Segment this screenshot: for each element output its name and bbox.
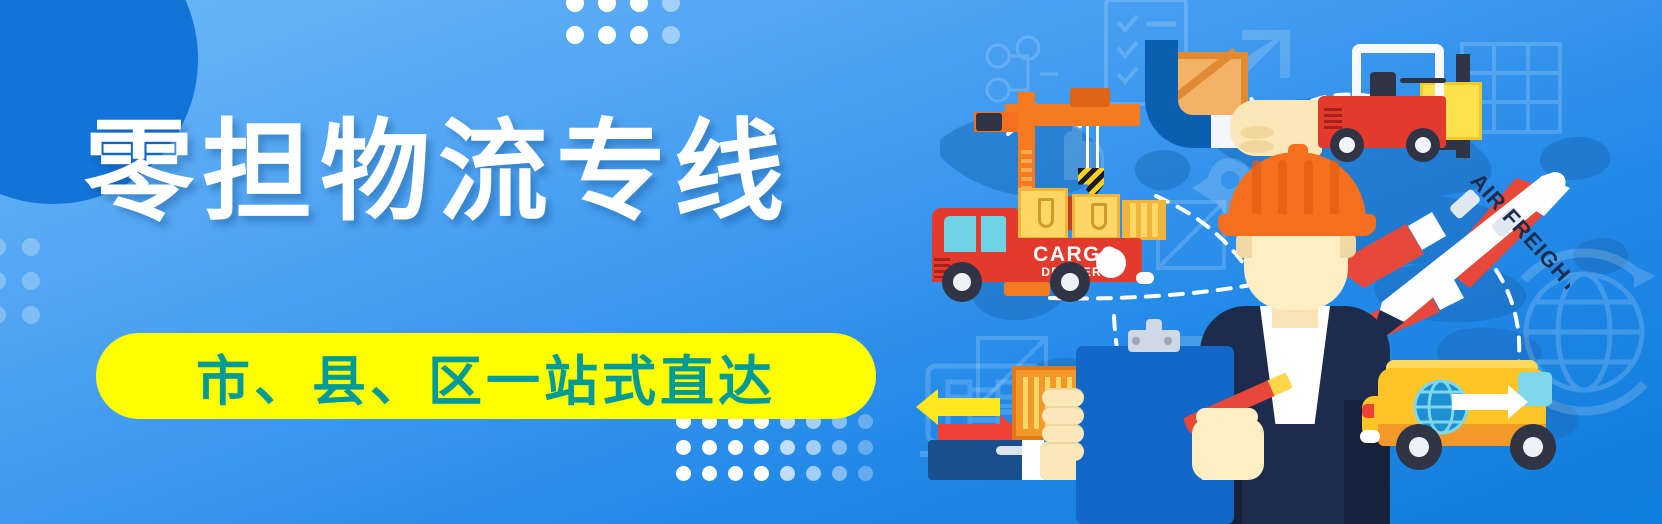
crane-counterweight: [976, 113, 1002, 131]
hard-hat-rib-1: [1252, 160, 1261, 222]
subheadline-pill[interactable]: 市、县、区一站式直达: [96, 333, 876, 419]
crane-cable-right: [1096, 126, 1099, 172]
forklift-grill: [1324, 108, 1342, 130]
worker-hand-writing: [1192, 418, 1264, 480]
page-title: 零担物流专线: [84, 118, 792, 228]
hard-hat-brim: [1218, 214, 1376, 236]
truck-wheel-front: [942, 262, 982, 302]
truck-window-divider: [976, 216, 981, 252]
van-headlight: [1362, 404, 1374, 418]
forklift-wheel-rear: [1406, 128, 1440, 162]
clipboard-clamp: [1128, 330, 1180, 352]
hand-knuckle-2: [1240, 140, 1274, 153]
forklift-steering-bar: [1400, 78, 1446, 83]
hand-knuckle-1: [1240, 126, 1274, 139]
truck-box-1: [1018, 188, 1068, 240]
hard-hat-rib-2: [1278, 160, 1287, 222]
van-exhaust-puff: [1360, 430, 1380, 443]
forklift-seat: [1370, 72, 1396, 98]
hard-hat-knob: [1288, 144, 1308, 158]
cuff-dots: [996, 446, 1028, 455]
hard-hat-rib-3: [1304, 160, 1313, 222]
forklift-cab: [1352, 44, 1444, 100]
subheadline-text: 市、县、区一站式直达: [196, 337, 776, 416]
dot-grid-top: [566, 0, 694, 58]
crane-base: [1004, 282, 1050, 296]
van-arrow-logo: [1452, 394, 1508, 410]
truck-wheel-rear: [1050, 262, 1090, 302]
dot-grid-left: [0, 238, 56, 340]
forklift-wheel-front: [1330, 128, 1364, 162]
van-wheel-rear: [1510, 424, 1556, 470]
truck-windshield: [944, 216, 1006, 252]
logistics-banner: CARGO DELIVERY AIR FREIGHT: [0, 0, 1662, 524]
arrow-left-yellow: [938, 398, 1000, 416]
truck-exhaust-puff: [1136, 272, 1154, 284]
hard-hat-rib-4: [1330, 160, 1339, 222]
van-wheel-front: [1396, 424, 1442, 470]
worker-thumb: [1196, 408, 1258, 426]
truck-box-2: [1072, 194, 1120, 240]
truck-logo-circle: [1096, 248, 1126, 278]
truck-crate-striped: [1122, 200, 1166, 240]
logistics-illustration: CARGO DELIVERY AIR FREIGHT: [900, 0, 1662, 524]
clipboard-holding-fingers: [1042, 388, 1084, 460]
dot-grid-bottom: [676, 414, 884, 492]
crane-motor: [1070, 88, 1110, 107]
crane-cable-left: [1086, 126, 1089, 172]
